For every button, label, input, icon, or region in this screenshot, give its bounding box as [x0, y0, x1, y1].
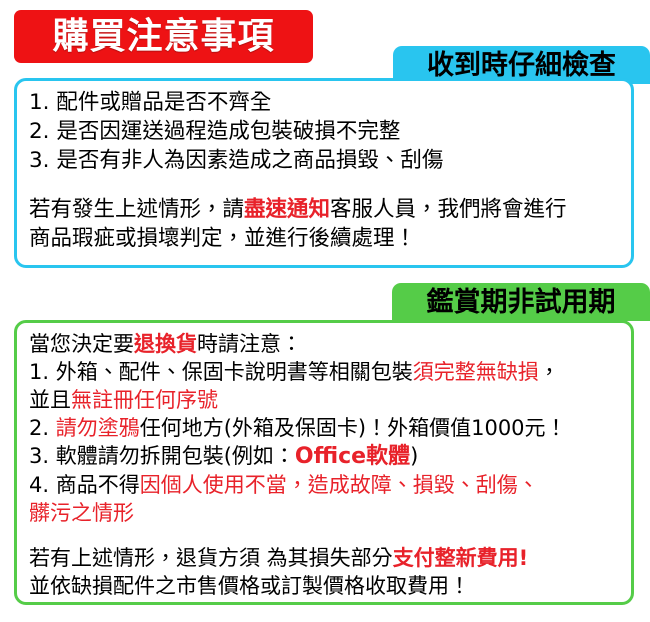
return-item-3-highlight: Office軟體: [295, 444, 410, 469]
return-intro: 當您決定要退換貨時請注意：: [29, 330, 621, 358]
return-footer-highlight: 支付整新費用!: [393, 546, 529, 570]
inspect-note-line-1: 若有發生上述情形，請盡速通知客服人員，我們將會進行: [29, 195, 621, 224]
page-title: 購買注意事項: [52, 19, 274, 55]
tab-return-label: 鑑賞期非試用期: [427, 289, 616, 316]
return-item-1-cont-highlight: 無註冊任何序號: [71, 388, 218, 412]
list-item: 2. 請勿塗鴉任何地方(外箱及保固卡)！外箱價值1000元！: [29, 414, 621, 442]
inspect-item-2-text: 2. 是否因運送過程造成包裝破損不完整: [29, 119, 400, 144]
return-section-box: 當您決定要退換貨時請注意： 1. 外箱、配件、保固卡說明書等相關包裝須完整無缺損…: [14, 320, 634, 605]
return-item-3-prefix: 3. 軟體請勿拆開包裝(例如：: [29, 444, 295, 468]
inspect-note-line-2-text: 商品瑕疵或損壞判定，並進行後續處理！: [29, 226, 416, 251]
list-item: 3. 是否有非人為因素造成之商品損毀、刮傷: [29, 146, 621, 175]
spacer: [29, 527, 621, 544]
page-title-badge: 購買注意事項: [14, 10, 313, 63]
return-item-4-highlight: 因個人使用不當，造成故障、損毀、刮傷、: [140, 473, 539, 497]
tab-inspect-label: 收到時仔細檢查: [427, 52, 616, 79]
return-item-1-cont-prefix: 並且: [29, 388, 71, 412]
return-footer-line-2-text: 並依缺損配件之市售價格或訂製價格收取費用！: [29, 574, 470, 598]
list-item: 1. 配件或贈品是否不齊全: [29, 88, 621, 117]
return-item-1-continued: 並且無註冊任何序號: [29, 386, 621, 414]
return-item-2-highlight: 請勿塗鴉: [56, 416, 140, 440]
return-item-3-suffix: ): [410, 444, 418, 468]
return-intro-highlight: 退換貨: [134, 332, 197, 356]
return-item-4-cont-highlight: 髒污之情形: [29, 501, 134, 525]
return-intro-suffix: 時請注意：: [197, 332, 302, 356]
return-item-2-suffix: 任何地方(外箱及保固卡)！外箱價值1000元！: [140, 416, 567, 440]
inspect-note-highlight: 盡速通知: [244, 197, 330, 222]
list-item: 2. 是否因運送過程造成包裝破損不完整: [29, 117, 621, 146]
inspect-item-3-text: 3. 是否有非人為因素造成之商品損毀、刮傷: [29, 148, 443, 173]
list-item: 4. 商品不得因個人使用不當，造成故障、損毀、刮傷、: [29, 471, 621, 499]
inspect-item-1-text: 1. 配件或贈品是否不齊全: [29, 90, 271, 115]
return-item-1-highlight: 須完整無缺損: [413, 360, 539, 384]
return-item-4-continued: 髒污之情形: [29, 499, 621, 527]
return-footer-line-2: 並依缺損配件之市售價格或訂製價格收取費用！: [29, 572, 621, 600]
list-item: 3. 軟體請勿拆開包裝(例如：Office軟體): [29, 442, 621, 471]
spacer: [29, 175, 621, 195]
return-item-4-prefix: 4. 商品不得: [29, 473, 140, 497]
notice-page: 購買注意事項 收到時仔細檢查 1. 配件或贈品是否不齊全 2. 是否因運送過程造…: [0, 0, 650, 622]
return-item-1-suffix: ，: [539, 360, 560, 384]
inspect-note-line-2: 商品瑕疵或損壞判定，並進行後續處理！: [29, 224, 621, 253]
return-item-2-prefix: 2.: [29, 416, 56, 440]
inspect-note-prefix: 若有發生上述情形，請: [29, 197, 244, 222]
list-item: 1. 外箱、配件、保固卡說明書等相關包裝須完整無缺損，: [29, 358, 621, 386]
return-footer-line-1: 若有上述情形，退貨方須 為其損失部分支付整新費用!: [29, 544, 621, 572]
inspect-note-suffix: 客服人員，我們將會進行: [330, 197, 567, 222]
return-footer-prefix: 若有上述情形，退貨方須 為其損失部分: [29, 546, 393, 570]
return-item-1-prefix: 1. 外箱、配件、保固卡說明書等相關包裝: [29, 360, 413, 384]
tab-return-policy: 鑑賞期非試用期: [392, 283, 650, 321]
inspect-section-box: 1. 配件或贈品是否不齊全 2. 是否因運送過程造成包裝破損不完整 3. 是否有…: [14, 78, 634, 268]
return-intro-prefix: 當您決定要: [29, 332, 134, 356]
